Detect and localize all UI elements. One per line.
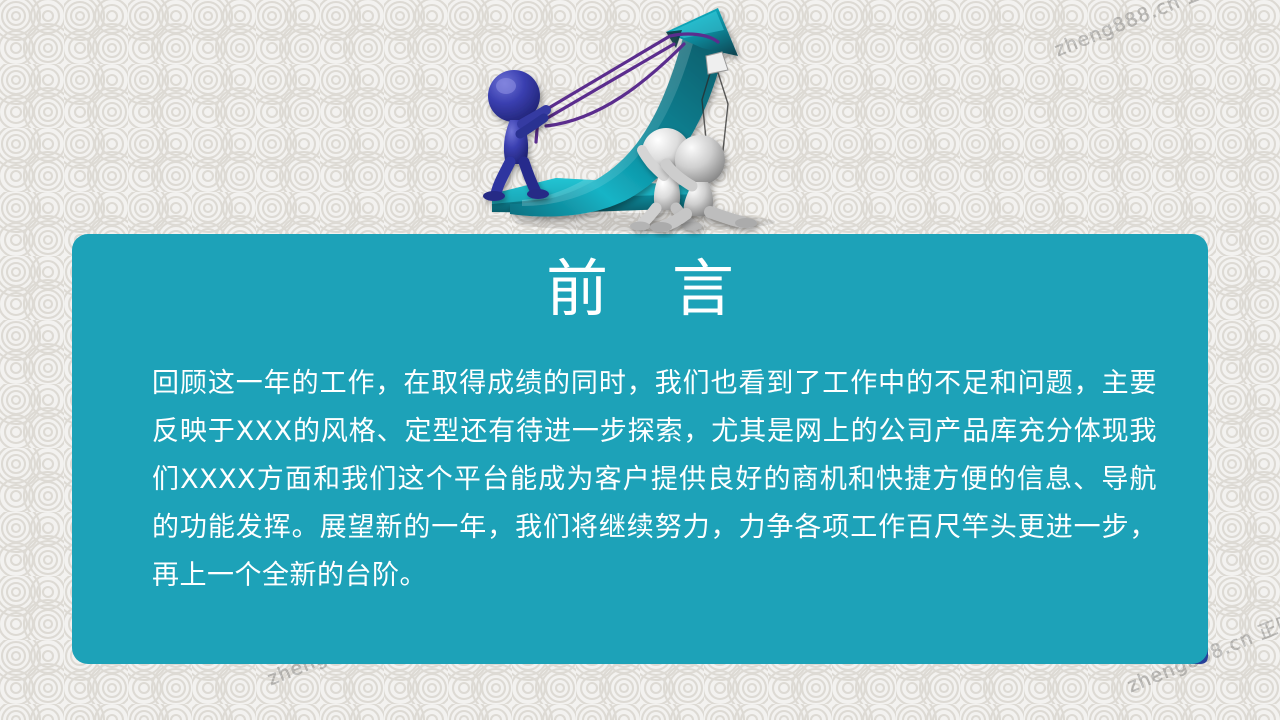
body-paragraph: 回顾这一年的工作，在取得成绩的同时，我们也看到了工作中的不足和问题，主要反映于X…: [152, 360, 1157, 600]
page-title: 前 言: [72, 258, 1208, 320]
blue-figure-pulling: [483, 70, 549, 201]
teamwork-rising-arrow-illustration: [470, 8, 810, 238]
presentation-slide: zheng888.cn 正吧PPT zheng888.cn 正吧PPT zhen…: [0, 0, 1280, 720]
content-card: 前 言 回顾这一年的工作，在取得成绩的同时，我们也看到了工作中的不足和问题，主要…: [72, 234, 1208, 664]
